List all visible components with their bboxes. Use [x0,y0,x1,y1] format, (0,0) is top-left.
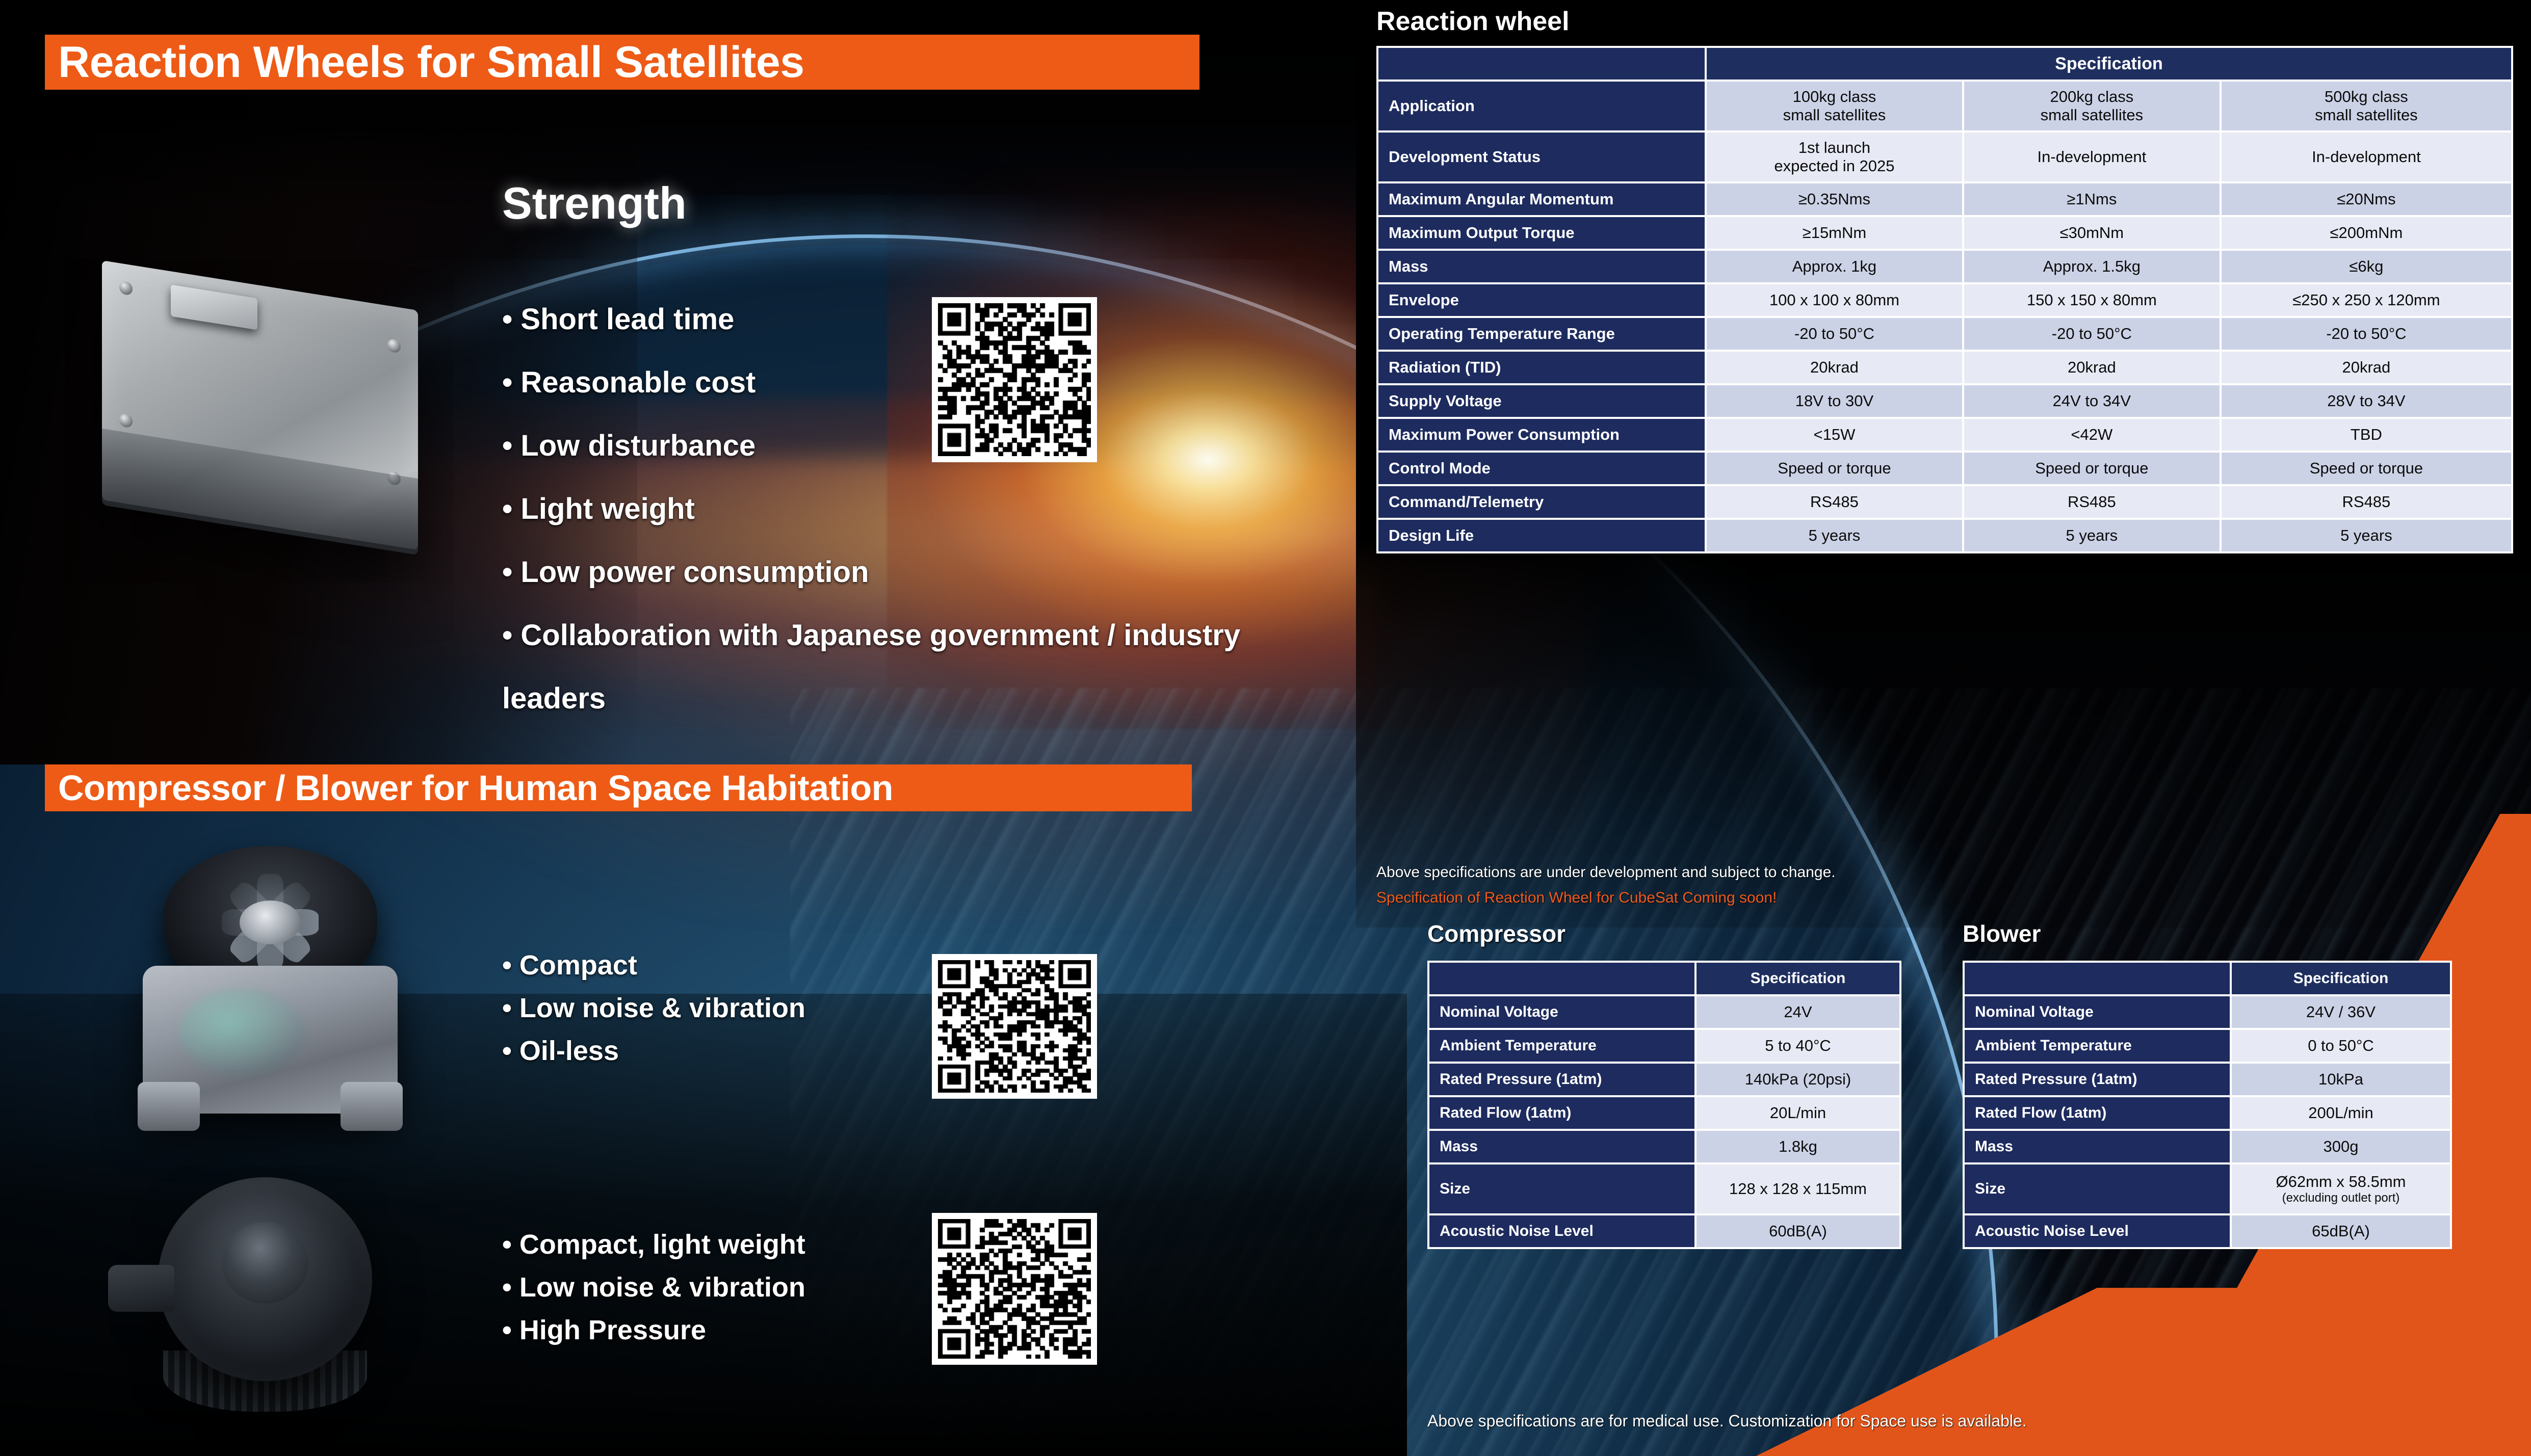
cell-max-output-torque-200kg: ≤30mNm [1964,217,2220,249]
row-label-development-status: Development Status [1378,133,1705,181]
cell-design-life-500kg: 5 years [2222,520,2511,551]
table-row: Nominal Voltage 24V / 36V [1965,996,2450,1028]
row-label-command-telemetry: Command/Telemetry [1378,486,1705,518]
table-row: Radiation (TID) 20krad 20krad 20krad [1378,352,2511,383]
table-row: Rated Flow (1atm) 20L/min [1429,1097,1899,1129]
cell-ambient-temperature: 5 to 40°C [1697,1030,1899,1062]
cell-command-telemetry-200kg: RS485 [1964,486,2220,518]
cell-rated-flow: 20L/min [1697,1097,1899,1129]
screw-icon [387,471,401,486]
list-item: • Oil-less [502,1029,805,1072]
blower-bullet-list: • Compact, light weight • Low noise & vi… [502,1223,805,1352]
list-item: • Low disturbance [502,414,1246,478]
table-row: Maximum Output Torque ≥15mNm ≤30mNm ≤200… [1378,217,2511,249]
strength-bullet-list: • Short lead time • Reasonable cost • Lo… [502,288,1246,730]
row-label-radiation-tid: Radiation (TID) [1378,352,1705,383]
cell-size: Ø62mm x 58.5mm (excluding outlet port) [2232,1164,2450,1213]
cell-nominal-voltage: 24V / 36V [2232,996,2450,1028]
col-header-100kg-line1: 100kg class [1793,88,1876,105]
compressor-table-caption: Compressor [1427,920,1565,947]
cell-envelope-500kg: ≤250 x 250 x 120mm [2222,284,2511,316]
table-row: Application 100kg class small satellites… [1378,82,2511,130]
table-row: Ambient Temperature 5 to 40°C [1429,1030,1899,1062]
table-row: Operating Temperature Range -20 to 50°C … [1378,318,2511,350]
blower-table-caption: Blower [1963,920,2041,947]
cell-max-power-500kg: TBD [2222,419,2511,451]
cell-max-angular-momentum-100kg: ≥0.35Nms [1707,183,1962,215]
fan-hub-center [240,901,301,944]
header-specification: Specification [1697,963,1899,994]
main-title-banner: Reaction Wheels for Small Satellites [45,35,1199,90]
cell-development-status-200kg: In-development [1964,133,2220,181]
cell-development-status-500kg: In-development [2222,133,2511,181]
table-row: Development Status 1st launch expected i… [1378,133,2511,181]
table-header-row: Specification [1429,963,1899,994]
cell-mass-100kg: Approx. 1kg [1707,251,1962,282]
header-specification: Specification [2232,963,2450,994]
row-label-ambient-temperature: Ambient Temperature [1429,1030,1694,1062]
row-label-nominal-voltage: Nominal Voltage [1965,996,2230,1028]
cell-radiation-200kg: 20krad [1964,352,2220,383]
table-row: Size 128 x 128 x 115mm [1429,1164,1899,1213]
cell-supply-voltage-100kg: 18V to 30V [1707,385,1962,417]
cell-command-telemetry-100kg: RS485 [1707,486,1962,518]
reaction-wheel-footnote-1: Above specifications are under developme… [1376,864,1836,881]
compressor-leg [138,1082,200,1131]
row-label-control-mode: Control Mode [1378,453,1705,484]
table-row: Control Mode Speed or torque Speed or to… [1378,453,2511,484]
cell-operating-temp-500kg: -20 to 50°C [2222,318,2511,350]
screw-icon [119,413,133,428]
table-row: Nominal Voltage 24V [1429,996,1899,1028]
table-row: Size Ø62mm x 58.5mm (excluding outlet po… [1965,1164,2450,1213]
table-row: Ambient Temperature 0 to 50°C [1965,1030,2450,1062]
row-label-rated-flow: Rated Flow (1atm) [1429,1097,1694,1129]
table-row: Acoustic Noise Level 65dB(A) [1965,1215,2450,1247]
cell-operating-temp-200kg: -20 to 50°C [1964,318,2220,350]
table-row: Maximum Angular Momentum ≥0.35Nms ≥1Nms … [1378,183,2511,215]
col-header-100kg: 100kg class small satellites [1707,82,1962,130]
header-specification: Specification [1707,48,2511,80]
cell-nominal-voltage: 24V [1697,996,1899,1028]
cell-design-life-200kg: 5 years [1964,520,2220,551]
table-row: Envelope 100 x 100 x 80mm 150 x 150 x 80… [1378,284,2511,316]
col-header-200kg-line2: small satellites [2041,106,2144,124]
header-blank-cell [1378,48,1705,80]
blower-product-photo [102,1157,418,1432]
reaction-wheel-housing [102,260,418,550]
cell-radiation-100kg: 20krad [1707,352,1962,383]
cell-max-power-200kg: <42W [1964,419,2220,451]
blower-outlet-port [108,1265,174,1312]
table-row: Rated Pressure (1atm) 10kPa [1965,1064,2450,1095]
header-blank-cell [1429,963,1694,994]
cell-acoustic-noise-level: 60dB(A) [1697,1215,1899,1247]
cell-max-output-torque-100kg: ≥15mNm [1707,217,1962,249]
cell-size: 128 x 128 x 115mm [1697,1164,1899,1213]
row-label-max-output-torque: Maximum Output Torque [1378,217,1705,249]
cell-mass: 1.8kg [1697,1131,1899,1162]
row-label-rated-pressure: Rated Pressure (1atm) [1965,1064,2230,1095]
reaction-wheel-product-photo [66,255,469,612]
row-label-acoustic-noise-level: Acoustic Noise Level [1429,1215,1694,1247]
table-row: Acoustic Noise Level 60dB(A) [1429,1215,1899,1247]
table-row: Mass 300g [1965,1131,2450,1162]
list-item: • Short lead time [502,288,1246,351]
cell-radiation-500kg: 20krad [2222,352,2511,383]
qr-code-reaction-wheel[interactable] [932,297,1097,462]
compressor-bullet-list: • Compact • Low noise & vibration • Oil-… [502,944,805,1072]
qr-code-compressor[interactable] [932,954,1097,1099]
table-row: Design Life 5 years 5 years 5 years [1378,520,2511,551]
compressor-leg [341,1082,403,1131]
row-label-max-angular-momentum: Maximum Angular Momentum [1378,183,1705,215]
cell-operating-temp-100kg: -20 to 50°C [1707,318,1962,350]
table-row: Maximum Power Consumption <15W <42W TBD [1378,419,2511,451]
list-item: • Light weight [502,478,1246,541]
cell-rated-flow: 200L/min [2232,1097,2450,1129]
cell-development-status-100kg: 1st launch expected in 2025 [1707,133,1962,181]
table-row: Rated Flow (1atm) 200L/min [1965,1097,2450,1129]
row-label-supply-voltage: Supply Voltage [1378,385,1705,417]
table-row: Supply Voltage 18V to 30V 24V to 34V 28V… [1378,385,2511,417]
row-label-acoustic-noise-level: Acoustic Noise Level [1965,1215,2230,1247]
table-row: Command/Telemetry RS485 RS485 RS485 [1378,486,2511,518]
cell-mass-200kg: Approx. 1.5kg [1964,251,2220,282]
list-item: • Compact, light weight [502,1223,805,1266]
cell-max-power-100kg: <15W [1707,419,1962,451]
col-header-500kg: 500kg class small satellites [2222,82,2511,130]
row-label-size: Size [1429,1164,1694,1213]
row-label-rated-pressure: Rated Pressure (1atm) [1429,1064,1694,1095]
compressor-blower-title-banner: Compressor / Blower for Human Space Habi… [45,764,1192,811]
cell-command-telemetry-500kg: RS485 [2222,486,2511,518]
blower-body [158,1177,372,1381]
compressor-highlight [178,989,306,1075]
cell-acoustic-noise-level: 65dB(A) [2232,1215,2450,1247]
row-label-operating-temperature-range: Operating Temperature Range [1378,318,1705,350]
strength-heading: Strength [502,177,687,229]
bottom-footnote: Above specifications are for medical use… [1427,1412,2027,1431]
cell-rated-pressure: 10kPa [2232,1064,2450,1095]
cell-design-life-100kg: 5 years [1707,520,1962,551]
table-header-row: Specification [1378,48,2511,80]
col-header-200kg: 200kg class small satellites [1964,82,2220,130]
blower-spec-table: Specification Nominal Voltage 24V / 36V … [1963,961,2452,1249]
cell-size-note: (excluding outlet port) [2232,1191,2450,1205]
row-label-design-life: Design Life [1378,520,1705,551]
cell-control-mode-500kg: Speed or torque [2222,453,2511,484]
header-blank-cell [1965,963,2230,994]
cell-line1: 1st launch [1798,139,1870,156]
list-item: • Low noise & vibration [502,987,805,1029]
cell-rated-pressure: 140kPa (20psi) [1697,1064,1899,1095]
col-header-500kg-line1: 500kg class [2325,88,2408,105]
blower-hub [222,1222,308,1304]
reaction-wheel-spec-table: Specification Application 100kg class sm… [1376,46,2513,553]
col-header-200kg-line1: 200kg class [2050,88,2134,105]
row-label-mass: Mass [1378,251,1705,282]
list-item: • Low noise & vibration [502,1266,805,1309]
list-item: • Reasonable cost [502,351,1246,414]
table-row: Rated Pressure (1atm) 140kPa (20psi) [1429,1064,1899,1095]
compressor-product-photo [76,836,454,1131]
table-row: Mass 1.8kg [1429,1131,1899,1162]
list-item: • High Pressure [502,1309,805,1352]
cell-supply-voltage-500kg: 28V to 34V [2222,385,2511,417]
cell-control-mode-100kg: Speed or torque [1707,453,1962,484]
table-row: Mass Approx. 1kg Approx. 1.5kg ≤6kg [1378,251,2511,282]
row-label-mass: Mass [1965,1131,2230,1162]
cell-max-output-torque-500kg: ≤200mNm [2222,217,2511,249]
row-label-nominal-voltage: Nominal Voltage [1429,996,1694,1028]
row-label-rated-flow: Rated Flow (1atm) [1965,1097,2230,1129]
reaction-wheel-table-caption: Reaction wheel [1376,6,1570,37]
screw-icon [119,280,133,296]
qr-code-blower[interactable] [932,1213,1097,1365]
col-header-500kg-line2: small satellites [2315,106,2418,124]
cell-control-mode-200kg: Speed or torque [1964,453,2220,484]
col-header-100kg-line2: small satellites [1783,106,1886,124]
cell-envelope-200kg: 150 x 150 x 80mm [1964,284,2220,316]
row-label-size: Size [1965,1164,2230,1213]
screw-icon [387,338,401,354]
cell-ambient-temperature: 0 to 50°C [2232,1030,2450,1062]
cell-mass-500kg: ≤6kg [2222,251,2511,282]
cell-supply-voltage-200kg: 24V to 34V [1964,385,2220,417]
row-label-envelope: Envelope [1378,284,1705,316]
cell-max-angular-momentum-500kg: ≤20Nms [2222,183,2511,215]
row-label-ambient-temperature: Ambient Temperature [1965,1030,2230,1062]
compressor-spec-table: Specification Nominal Voltage 24V Ambien… [1427,961,1901,1249]
list-item: • Collaboration with Japanese government… [502,604,1246,730]
cell-line2: expected in 2025 [1774,157,1894,175]
row-label-max-power-consumption: Maximum Power Consumption [1378,419,1705,451]
cell-size-main: Ø62mm x 58.5mm [2276,1173,2406,1190]
cell-mass: 300g [2232,1131,2450,1162]
list-item: • Compact [502,944,805,987]
cell-envelope-100kg: 100 x 100 x 80mm [1707,284,1962,316]
row-label-application: Application [1378,82,1705,130]
table-header-row: Specification [1965,963,2450,994]
list-item: • Low power consumption [502,541,1246,604]
cell-max-angular-momentum-200kg: ≥1Nms [1964,183,2220,215]
reaction-wheel-footnote-2: Specification of Reaction Wheel for Cube… [1376,889,1777,907]
row-label-mass: Mass [1429,1131,1694,1162]
